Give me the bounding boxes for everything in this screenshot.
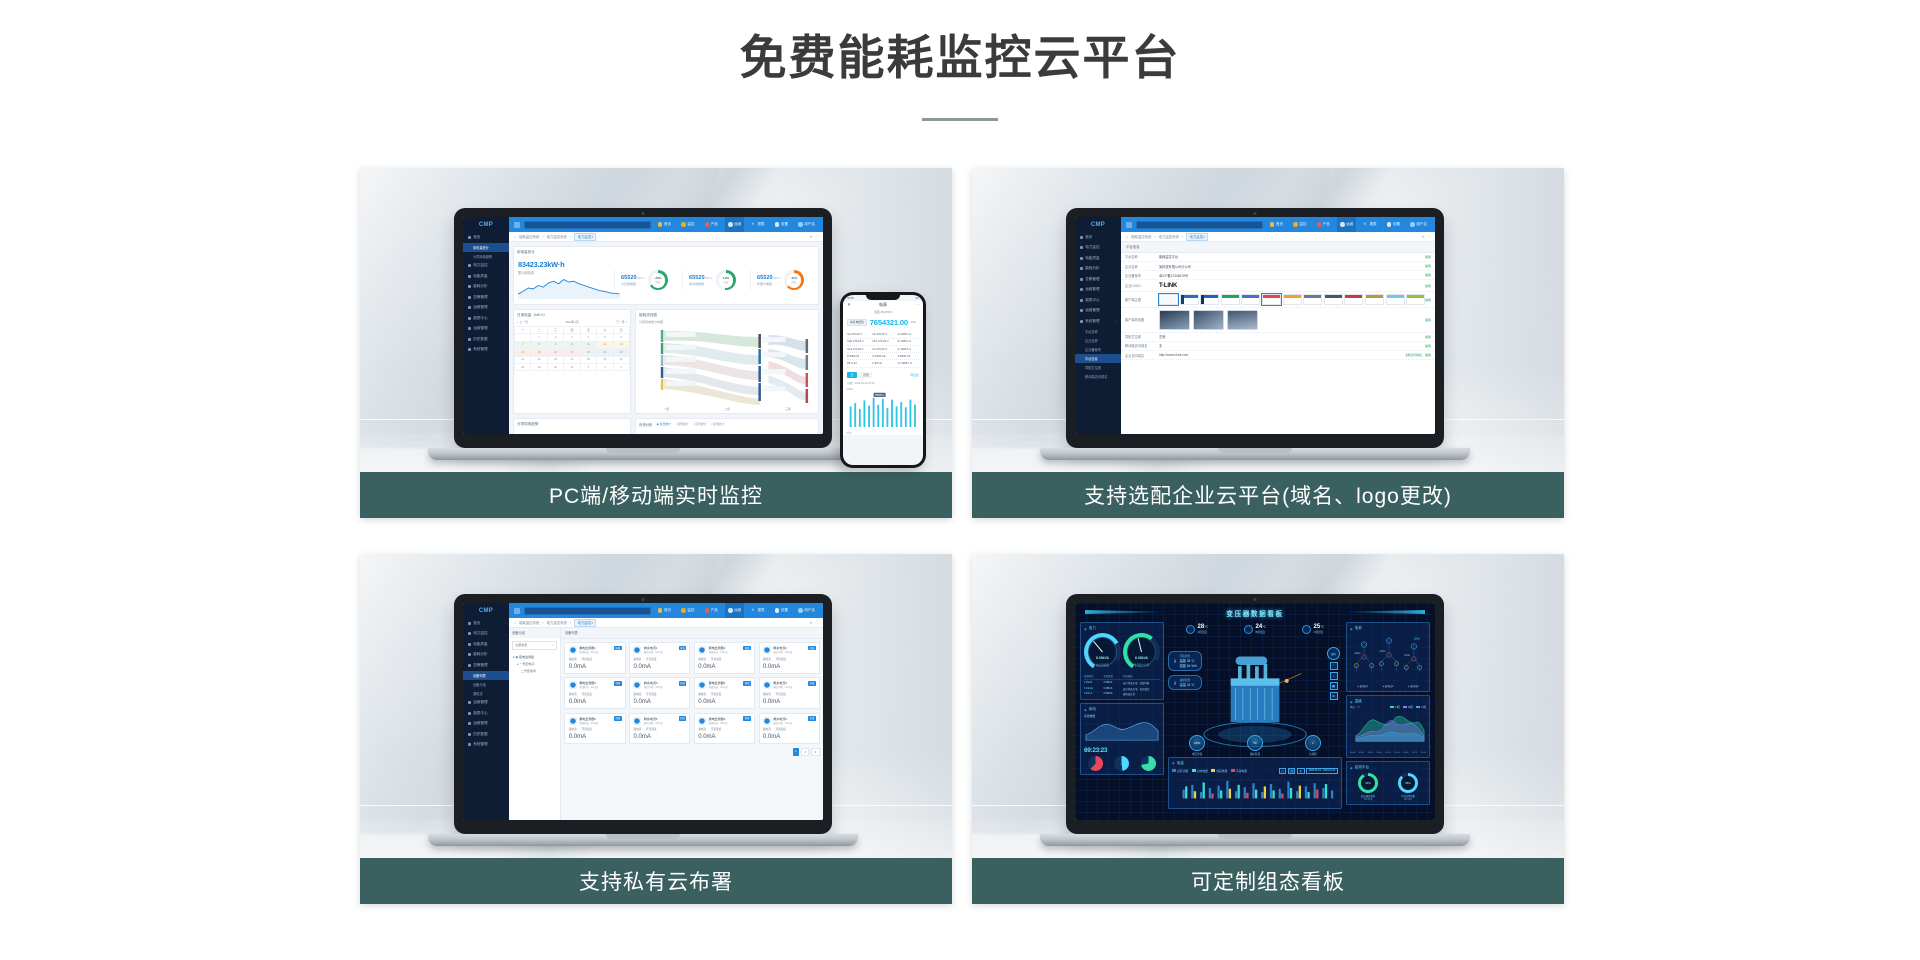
topnav-label: 设置 bbox=[781, 222, 788, 227]
theme-swatch-12[interactable] bbox=[1406, 294, 1425, 305]
device-card[interactable]: 离线漏电监测器5离线状态 · 05号房漏电流环境温度0.0mA bbox=[564, 713, 625, 745]
corner-dots-icon: ·· bbox=[1157, 625, 1161, 629]
calendar-cell[interactable]: 24 bbox=[564, 356, 580, 363]
kpi-c-phase: 25℃C相温度 bbox=[1302, 624, 1324, 634]
cell: 6.05kW bbox=[1084, 681, 1103, 685]
cell: Im 1665.1 A bbox=[898, 362, 919, 365]
calendar-cell[interactable]: 8 bbox=[531, 341, 547, 348]
sidebar-sublabel: 企业备案号 bbox=[1085, 347, 1101, 352]
topnav-item-0[interactable]: 首页 bbox=[1267, 217, 1286, 232]
sidebar-item-0[interactable]: 首页› bbox=[463, 232, 509, 243]
period-month-button[interactable]: 月 bbox=[1288, 768, 1296, 775]
calendar-cell[interactable]: 18 bbox=[580, 349, 596, 356]
sidebar-item-3[interactable]: 能耗分析› bbox=[463, 650, 509, 661]
sidebar-item-5[interactable]: 运维管理› bbox=[463, 303, 509, 314]
cell: 5.28mA bbox=[1084, 692, 1103, 696]
sidebar-label: 电能质量 bbox=[473, 274, 487, 279]
load-radio-3[interactable]: ○ 按年统计 bbox=[710, 422, 724, 426]
calendar-cell[interactable]: 27 bbox=[613, 356, 629, 363]
cell: Ua 270.02 V bbox=[847, 333, 868, 336]
sidebar-item-3[interactable]: 能耗分析› bbox=[1075, 264, 1121, 275]
copy-link-button[interactable]: 复制访问地址 bbox=[1405, 353, 1422, 357]
sidebar-item-4[interactable]: 告警管理› bbox=[1075, 274, 1121, 285]
device-field-1: 漏电流 bbox=[569, 692, 577, 696]
breadcrumb-item-1[interactable]: 电力监控系统 bbox=[547, 620, 567, 625]
theme-swatch-11[interactable] bbox=[1386, 294, 1405, 305]
laptop-mockup-2: CMP 首页› 电力监控› 电能质量› 能耗分析› 告警管理› 运维管理› 报表… bbox=[1066, 208, 1470, 460]
sidebar-sublabel: 分项用电趋势 bbox=[473, 254, 492, 259]
laptop-mockup-3: CMP 首页› 电力监控› 电能质量› 能耗分析› 告警管理⌄ 设备列表 设备分… bbox=[454, 594, 858, 846]
calendar-cell[interactable]: 17 bbox=[564, 349, 580, 356]
sidebar-subitem-a[interactable]: 用电量统计 bbox=[463, 243, 509, 252]
app-logo[interactable]: CMP bbox=[463, 217, 509, 232]
calendar-prev-button[interactable]: < 上一月 bbox=[517, 320, 528, 324]
topnav-item-1[interactable]: 监控 bbox=[678, 217, 697, 232]
calendar-heatmap[interactable]: 一 二 三 四 五 六 日 bbox=[514, 326, 630, 371]
calendar-cell[interactable]: 19 bbox=[597, 349, 613, 356]
calendar-cell[interactable]: 1 bbox=[531, 334, 547, 341]
calendar-cell[interactable]: 2 bbox=[597, 363, 613, 370]
cell: 5.04kVar bbox=[1084, 687, 1103, 691]
device-subitem-0[interactable]: 设备列表 bbox=[463, 671, 509, 680]
edit-button[interactable]: 编辑 bbox=[1425, 255, 1431, 259]
calendar-cell[interactable]: 25 bbox=[580, 356, 596, 363]
calendar-cell[interactable]: 29 bbox=[531, 363, 547, 370]
sidebar-item-5[interactable]: 运维管理› bbox=[1075, 285, 1121, 296]
feature-card-1[interactable]: CMP 首页› 用电量统计 分项用电趋势 电力监控› 电能质量› 能耗分析› 告… bbox=[360, 168, 952, 518]
sidebar-item-8[interactable]: 历史数据› bbox=[463, 729, 509, 740]
sidebar-label: 电力监控 bbox=[473, 631, 487, 636]
scada-panel-meter: 电量 ·· 总有功量 尖峰电量 谷段电量 bbox=[1168, 757, 1342, 809]
topnav-label: 设置 bbox=[1393, 222, 1400, 227]
breadcrumb-item-0[interactable]: 能耗监控系统 bbox=[1131, 234, 1151, 239]
sidebar-item-8[interactable]: 系统管理⌄ bbox=[1075, 316, 1121, 327]
calendar-cell[interactable]: 2 bbox=[547, 334, 563, 341]
settings-subitem-1[interactable]: 企业名称 bbox=[1075, 336, 1121, 345]
breadcrumb-tag[interactable]: 电力监控1 bbox=[574, 619, 596, 627]
app-logo[interactable]: CMP bbox=[1075, 217, 1121, 232]
load-radio-2[interactable]: ○ 按月统计 bbox=[693, 422, 707, 426]
background-thumb-list[interactable] bbox=[1159, 310, 1425, 330]
table-header: 实时数值 bbox=[1104, 674, 1123, 678]
theme-swatch-list[interactable] bbox=[1159, 294, 1425, 305]
feature-card-2[interactable]: CMP 首页› 电力监控› 电能质量› 能耗分析› 告警管理› 运维管理› 报表… bbox=[972, 168, 1564, 518]
row-value: 粤ICP备12345678号 bbox=[1159, 273, 1425, 278]
theme-swatch-7[interactable] bbox=[1303, 294, 1322, 305]
gear-icon[interactable]: ⚙ bbox=[1330, 692, 1338, 700]
topnav-item-6[interactable]: 用户名 bbox=[1407, 217, 1430, 232]
topnav-item-0[interactable]: 首页 bbox=[655, 217, 674, 232]
device-card[interactable]: 在线剩余电流1通信中断 · 01号房漏电流环境湿度0.0mA bbox=[629, 642, 690, 674]
sankey-axis-label: 三级 bbox=[785, 407, 791, 411]
theme-swatch-4[interactable] bbox=[1241, 294, 1260, 305]
breadcrumb-tag[interactable]: 电力监控1 bbox=[574, 233, 596, 241]
env-monitor-pill: 🌡 环境监测温度 28 ℃湿度 54 %rh bbox=[1168, 651, 1202, 671]
device-card[interactable]: 在线剩余电流2通信中断 · 02号房漏电流环境湿度0.0mA bbox=[759, 642, 820, 674]
topnav-item-3[interactable]: 运维 bbox=[725, 217, 744, 232]
kpi-unit: kW·h bbox=[637, 276, 644, 280]
cell: Ic 1665.1 A bbox=[898, 348, 919, 351]
topnav-item-0[interactable]: 首页 bbox=[655, 603, 674, 618]
date-range-input[interactable]: 2024-01-01 - 2024-01-31 bbox=[1306, 768, 1338, 774]
gauge-value: 88% bbox=[1401, 776, 1415, 790]
hamburger-icon[interactable] bbox=[1126, 222, 1132, 228]
calendar-cell[interactable]: 12 bbox=[597, 341, 613, 348]
device-sub: 通信中断 · 03号房 bbox=[644, 685, 663, 689]
device-card[interactable]: 离线漏电监测器4离线状态 · 04号房漏电流环境温度0.0mA bbox=[694, 677, 755, 709]
kpi-label: B相温度 bbox=[1256, 630, 1267, 634]
sidebar-label: 系统管理 bbox=[1085, 319, 1099, 324]
calendar-cell[interactable]: 31 bbox=[564, 363, 580, 370]
edit-button[interactable]: 编辑 bbox=[1425, 284, 1431, 288]
sidebar-item-7[interactable]: 运维管理› bbox=[463, 324, 509, 335]
scada-panel-circuit: 电参 ·· bbox=[1346, 622, 1430, 692]
topnav-item-4[interactable]: ✕报表 bbox=[748, 603, 767, 618]
phone-period-day-button[interactable]: 日 bbox=[847, 372, 857, 378]
device-card[interactable]: 在线剩余电流6通信中断 · 06号房漏电流环境湿度0.0mA bbox=[759, 713, 820, 745]
device-field-1: 漏电流 bbox=[698, 657, 706, 661]
fullscreen-icon[interactable]: ⛶ bbox=[1428, 235, 1430, 239]
phone-data-row: PF 0.24F 50 HzIm 1665.1 A bbox=[847, 360, 919, 367]
sidebar-item-6[interactable]: 报表中心› bbox=[463, 708, 509, 719]
row-value: http://www.t-link.com bbox=[1159, 353, 1405, 357]
sidebar-item-6[interactable]: 报表中心› bbox=[1075, 295, 1121, 306]
axis-tick: 21:00 bbox=[1412, 752, 1417, 754]
calendar-month-label: 2024年1月 bbox=[565, 320, 578, 324]
calendar-cell[interactable]: 4 bbox=[580, 334, 596, 341]
device-card[interactable]: 在线剩余电流4通信中断 · 04号房漏电流环境湿度0.0mA bbox=[759, 677, 820, 709]
device-name: 漏电监测器6 bbox=[709, 717, 728, 721]
breadcrumb-home-icon[interactable]: ⌂ bbox=[514, 235, 516, 239]
refresh-icon[interactable]: ⟳ bbox=[1422, 235, 1425, 239]
settings-subitem-4[interactable]: 导航栏位置 bbox=[1075, 363, 1121, 372]
axis-tick: 24:00 bbox=[1421, 752, 1426, 754]
phone-titlebar: ✕ 电表 ⋯ bbox=[843, 301, 923, 310]
row-value: 左侧 bbox=[1159, 334, 1425, 339]
chart-tooltip-text: 8568.2 bbox=[875, 393, 884, 397]
calendar-cell[interactable]: 20 bbox=[613, 349, 629, 356]
calendar-cell[interactable]: 22 bbox=[531, 356, 547, 363]
sidebar-label: 运维管理 bbox=[473, 700, 487, 705]
calendar-cell[interactable]: 10 bbox=[564, 341, 580, 348]
sidebar-item-8[interactable]: 历史数据› bbox=[463, 334, 509, 345]
sidebar-item-1[interactable]: 电力监控› bbox=[1075, 243, 1121, 254]
calendar-cell[interactable]: 26 bbox=[597, 356, 613, 363]
device-subitem-1[interactable]: 设备分组 bbox=[463, 680, 509, 689]
calendar-cell[interactable]: 3 bbox=[613, 363, 629, 370]
sidebar-item-4[interactable]: 告警管理⌄ bbox=[463, 660, 509, 671]
theme-swatch-1[interactable] bbox=[1180, 294, 1199, 305]
sidebar-item-1[interactable]: 电力监控› bbox=[463, 629, 509, 640]
realtime-button[interactable]: 实时 bbox=[1327, 647, 1340, 660]
weekday: 五 bbox=[580, 326, 596, 333]
svg-text:220kv: 220kv bbox=[1379, 651, 1386, 653]
refresh-icon[interactable]: ⟳ bbox=[810, 621, 813, 625]
breadcrumb-item-1[interactable]: 电力监控系统 bbox=[1159, 234, 1179, 239]
calendar-cell[interactable]: 11 bbox=[580, 341, 596, 348]
device-sub: 离线状态 · 03号房 bbox=[579, 685, 598, 689]
theme-swatch-3[interactable] bbox=[1221, 294, 1240, 305]
laptop-screen-devices[interactable]: CMP 首页› 电力监控› 电能质量› 能耗分析› 告警管理⌄ 设备列表 设备分… bbox=[463, 603, 823, 820]
breadcrumb-item-0[interactable]: 能耗监控系统 bbox=[519, 620, 539, 625]
panel-title: 监测平台 bbox=[1350, 765, 1369, 770]
topnav-item-6[interactable]: 用户名 bbox=[795, 217, 818, 232]
calendar-cell[interactable]: 13 bbox=[613, 341, 629, 348]
laptop-lid: CMP 首页› 电力监控› 电能质量› 能耗分析› 告警管理⌄ 设备列表 设备分… bbox=[454, 594, 832, 834]
topnav-label: 用户名 bbox=[1416, 222, 1427, 227]
refresh-icon[interactable]: ⟳ bbox=[810, 235, 813, 239]
topnav-label: 首页 bbox=[664, 608, 671, 613]
device-card[interactable]: 离线漏电监测器3离线状态 · 03号房漏电流环境温度0.0mA bbox=[564, 677, 625, 709]
sidebar-item-7[interactable]: 运维管理› bbox=[463, 719, 509, 730]
feature-card-3[interactable]: CMP 首页› 电力监控› 电能质量› 能耗分析› 告警管理⌄ 设备列表 设备分… bbox=[360, 554, 952, 904]
sidebar-item-1[interactable]: 电力监控› bbox=[463, 261, 509, 272]
sidebar-item-2[interactable]: 电能质量› bbox=[463, 639, 509, 650]
settings-subitem-3[interactable]: 平台信息 bbox=[1075, 354, 1121, 363]
page-1[interactable]: 1 bbox=[793, 748, 799, 756]
base-node-icon[interactable]: 1 bbox=[1305, 735, 1321, 751]
calendar-cell[interactable]: 3 bbox=[564, 334, 580, 341]
device-sub: 离线状态 · 04号房 bbox=[709, 685, 728, 689]
settings-row-7: 移动端访问域名 无 编辑 bbox=[1121, 342, 1435, 351]
chevron-down-icon[interactable]: ⌄ bbox=[1330, 672, 1338, 680]
device-card[interactable]: 离线漏电监测器1离线状态 · 01号房漏电流环境温度0.0mA bbox=[564, 642, 625, 674]
theme-swatch-5[interactable] bbox=[1262, 294, 1281, 305]
device-card[interactable]: 离线漏电监测器2离线状态 · 02号房漏电流环境温度0.0mA bbox=[694, 642, 755, 674]
row-label: 客户端主题 bbox=[1125, 297, 1159, 302]
device-icon bbox=[633, 646, 641, 654]
background-thumb-1[interactable] bbox=[1193, 310, 1224, 330]
page-root: 免费能耗监控云平台 CMP 首页› 用电量统计 分项用电趋势 bbox=[0, 0, 1920, 960]
sankey-diagram[interactable] bbox=[636, 325, 818, 407]
feature-card-4[interactable]: 变压器数据看板 电力 ·· bbox=[972, 554, 1564, 904]
background-thumb-2[interactable] bbox=[1227, 310, 1258, 330]
topnav-item-2[interactable]: 产品 bbox=[702, 603, 721, 618]
topnav-item-5[interactable]: 设置 bbox=[1384, 217, 1403, 232]
device-value: 0.0mA bbox=[633, 664, 685, 670]
sidebar-item-0[interactable]: 首页› bbox=[463, 618, 509, 629]
sidebar-item-7[interactable]: 运维管理› bbox=[1075, 306, 1121, 317]
kpi-panel-title: 用电量统计 bbox=[514, 247, 818, 257]
topnav-item-4[interactable]: ✕报表 bbox=[1360, 217, 1379, 232]
topnav-item-3[interactable]: 运维 bbox=[725, 603, 744, 618]
sidebar-item-2[interactable]: 电能质量› bbox=[463, 271, 509, 282]
axis-tick: 18:00 bbox=[1403, 752, 1408, 754]
load-panel: 负荷分析 ◉ 按日统计 ○ 按周统计 ○ 按月统计 ○ 按年统计 bbox=[635, 418, 819, 434]
kpi-label: 本月用电量 bbox=[689, 282, 712, 286]
calendar-cell[interactable]: 21 bbox=[515, 356, 531, 363]
fullscreen-icon[interactable]: ⛶ bbox=[816, 621, 818, 625]
trend-panel: 分项用电趋势 bbox=[513, 418, 631, 434]
page-3[interactable]: 3 bbox=[811, 748, 819, 756]
gauge-label: 同比 bbox=[656, 280, 661, 284]
device-icon bbox=[569, 717, 577, 725]
grid-view-icon[interactable]: ▦ bbox=[1330, 682, 1338, 690]
phone-period-month-button[interactable]: 月份 bbox=[860, 372, 872, 378]
theme-swatch-8[interactable] bbox=[1324, 294, 1343, 305]
tree-type-select[interactable]: 全部类型⌄ bbox=[512, 641, 557, 650]
calendar-cell[interactable]: 7 bbox=[515, 341, 531, 348]
fullscreen-icon[interactable]: ⛶ bbox=[816, 235, 818, 239]
hamburger-icon[interactable] bbox=[514, 222, 520, 228]
calendar-cell[interactable]: 9 bbox=[547, 341, 563, 348]
kpi-panel: 用电量统计 83423.23kW·h 累计用电量 bbox=[513, 246, 819, 305]
app-topbar: 首页 监控 产品 运维 ✕报表 设置 用户名 bbox=[509, 603, 823, 618]
laptop-screen-settings[interactable]: CMP 首页› 电力监控› 电能质量› 能耗分析› 告警管理› 运维管理› 报表… bbox=[1075, 217, 1435, 434]
calendar-cell[interactable]: 6 bbox=[613, 334, 629, 341]
topnav-item-1[interactable]: 监控 bbox=[1290, 217, 1309, 232]
sidebar-subitem-b[interactable]: 分项用电趋势 bbox=[463, 252, 509, 261]
device-field-1: 漏电流 bbox=[569, 657, 577, 661]
device-name: 漏电监测器5 bbox=[579, 717, 598, 721]
load-radio-1[interactable]: ○ 按周统计 bbox=[675, 422, 689, 426]
topnav-label: 首页 bbox=[1276, 222, 1283, 227]
sidebar-sublabel: 企业名称 bbox=[1085, 338, 1098, 343]
laptop-screen-scada[interactable]: 变压器数据看板 电力 ·· bbox=[1075, 603, 1435, 820]
kpi-unit: ℃ bbox=[1320, 625, 1324, 629]
kpi-unit: kW·h bbox=[773, 276, 780, 280]
tree-node-2[interactable]: 二号配电间 bbox=[509, 667, 560, 674]
period-day-button[interactable]: 日 bbox=[1279, 768, 1287, 775]
device-card[interactable]: 离线漏电监测器6离线状态 · 06号房漏电流环境温度0.0mA bbox=[694, 713, 755, 745]
topnav-item-1[interactable]: 监控 bbox=[678, 603, 697, 618]
tree-node-1[interactable]: ▸ 一号配电间 bbox=[509, 660, 560, 667]
device-field-1: 漏电流 bbox=[633, 692, 641, 696]
sidebar-item-4[interactable]: 告警管理› bbox=[463, 292, 509, 303]
edit-button[interactable]: 编辑 bbox=[1425, 298, 1431, 302]
phone-toolbar: 日 月份 导出表 bbox=[843, 370, 923, 381]
app-logo[interactable]: CMP bbox=[463, 603, 509, 618]
pagination[interactable]: 1 2 3 bbox=[564, 748, 819, 756]
circuit-node-label-2: ● 变电站3 bbox=[1408, 684, 1419, 688]
topnav-item-5[interactable]: 设置 bbox=[772, 603, 791, 618]
edit-button[interactable]: 编辑 bbox=[1425, 344, 1431, 348]
sidebar-item-3[interactable]: 能耗分析› bbox=[463, 282, 509, 293]
title-wing-left-icon bbox=[1085, 610, 1163, 614]
close-icon[interactable]: ✕ bbox=[847, 302, 851, 308]
phone-bar-chart[interactable]: 10000 8568.2 bbox=[843, 386, 923, 435]
breadcrumb-tag[interactable]: 电力监控1 bbox=[1186, 233, 1208, 241]
cell: P 5000 W bbox=[847, 355, 868, 358]
edit-button[interactable]: 编辑 bbox=[1425, 353, 1431, 357]
theme-swatch-2[interactable] bbox=[1200, 294, 1219, 305]
device-badge: 离线 bbox=[743, 646, 751, 651]
calendar-cell[interactable]: 30 bbox=[547, 363, 563, 370]
calendar-cell[interactable]: 16 bbox=[547, 349, 563, 356]
topnav-item-4[interactable]: ✕报表 bbox=[748, 217, 767, 232]
calendar-cell[interactable]: 14 bbox=[515, 349, 531, 356]
legend-label: 谷段电量 bbox=[1216, 769, 1227, 773]
calendar-cell[interactable]: 23 bbox=[547, 356, 563, 363]
device-badge: 在线 bbox=[679, 716, 687, 721]
device-field-1: 漏电流 bbox=[633, 657, 641, 661]
period-year-button[interactable]: 年 bbox=[1297, 768, 1305, 775]
settings-subitem-5[interactable]: 移动端访问域名 bbox=[1075, 372, 1121, 381]
device-icon bbox=[698, 717, 706, 725]
scada-panel-load: 用电 ·· 总用电量 bbox=[1080, 703, 1164, 775]
more-icon[interactable]: ⋯ bbox=[915, 303, 918, 307]
sidebar-item-6[interactable]: 报表中心› bbox=[463, 313, 509, 324]
sidebar-item-2[interactable]: 电能质量› bbox=[1075, 253, 1121, 264]
device-subitem-2[interactable]: 漏电流 bbox=[463, 689, 509, 698]
device-field-2: 环境温度 bbox=[582, 692, 592, 696]
chevron-up-icon[interactable]: ⌃ bbox=[1330, 662, 1338, 670]
theme-swatch-10[interactable] bbox=[1365, 294, 1384, 305]
topnav-item-6[interactable]: 用户名 bbox=[795, 603, 818, 618]
laptop-lid: 变压器数据看板 电力 ·· bbox=[1066, 594, 1444, 834]
edit-button[interactable]: 编辑 bbox=[1425, 273, 1431, 277]
gauge-max-load: 6.05kVA 当月最大负荷 bbox=[1123, 633, 1160, 671]
gauge-label: 当月最大负荷 bbox=[1123, 663, 1160, 667]
weekday: 二 bbox=[531, 326, 547, 333]
sidebar-item-9[interactable]: 系统管理› bbox=[463, 345, 509, 356]
kpi-gauge: 9.8%同比 bbox=[716, 270, 736, 290]
base-node-icon[interactable]: 50 bbox=[1247, 735, 1263, 751]
calendar-cell[interactable]: 1 bbox=[580, 363, 596, 370]
settings-row-theme: 客户端主题 bbox=[1121, 292, 1435, 308]
calendar-cell[interactable]: 28 bbox=[515, 363, 531, 370]
sidebar-item-5[interactable]: 运维管理› bbox=[463, 698, 509, 709]
theme-swatch-6[interactable] bbox=[1283, 294, 1302, 305]
device-sub: 通信中断 · 02号房 bbox=[773, 650, 792, 654]
topnav-item-3[interactable]: 运维 bbox=[1337, 217, 1356, 232]
calendar-cell[interactable] bbox=[515, 334, 531, 341]
edit-button[interactable]: 编辑 bbox=[1425, 335, 1431, 339]
background-thumb-0[interactable] bbox=[1159, 310, 1190, 330]
scada-title-bar: 变压器数据看板 bbox=[1075, 603, 1435, 622]
node-label: 负荷柜 bbox=[1305, 752, 1321, 756]
theme-swatch-0[interactable] bbox=[1159, 294, 1178, 305]
device-icon bbox=[763, 681, 771, 689]
breadcrumb-home-icon[interactable]: ⌂ bbox=[1126, 235, 1128, 239]
topnav-label: 用户名 bbox=[804, 608, 815, 613]
breadcrumb-home-icon[interactable]: ⌂ bbox=[514, 621, 516, 625]
hamburger-icon[interactable] bbox=[514, 608, 520, 614]
settings-panel-title: 平台信息 bbox=[1121, 242, 1435, 253]
edit-button[interactable]: 编辑 bbox=[1425, 318, 1431, 322]
edit-button[interactable]: 编辑 bbox=[1425, 264, 1431, 268]
sidebar-item-0[interactable]: 首页› bbox=[1075, 232, 1121, 243]
app-sidebar: CMP 首页› 电力监控› 电能质量› 能耗分析› 告警管理⌄ 设备列表 设备分… bbox=[463, 603, 509, 820]
company-logo: T-LINK bbox=[1159, 283, 1425, 289]
calendar-cell[interactable]: 5 bbox=[597, 334, 613, 341]
topnav-item-5[interactable]: 设置 bbox=[772, 217, 791, 232]
settings-subitem-0[interactable]: 平台名称 bbox=[1075, 327, 1121, 336]
page-2[interactable]: 2 bbox=[801, 748, 809, 756]
theme-swatch-9[interactable] bbox=[1344, 294, 1363, 305]
kpi-unit: ℃ bbox=[1204, 625, 1208, 629]
phone-export-button[interactable]: 导出表 bbox=[910, 373, 918, 377]
tree-node-0[interactable]: ▾ ▣ 配电监测组 bbox=[509, 653, 560, 660]
topnav-item-2[interactable]: 产品 bbox=[1314, 217, 1333, 232]
card-caption-3: 支持私有云布署 bbox=[360, 858, 952, 904]
sidebar-label: 历史数据 bbox=[473, 732, 487, 737]
breadcrumb-item-1[interactable]: 电力监控系统 bbox=[547, 234, 567, 239]
phone-screen[interactable]: 10:48 4G ✕ 电表 ⋯ 温度 36V/50% 本月电能值 7654321… bbox=[843, 295, 923, 465]
load-radio-0[interactable]: ◉ 按日统计 bbox=[657, 422, 671, 426]
base-node-icon[interactable]: 1800 bbox=[1189, 735, 1205, 751]
topnav-item-2[interactable]: 产品 bbox=[702, 217, 721, 232]
laptop-screen-dashboard[interactable]: CMP 首页› 用电量统计 分项用电趋势 电力监控› 电能质量› 能耗分析› 告… bbox=[463, 217, 823, 434]
sidebar-item-9[interactable]: 系统管理› bbox=[463, 740, 509, 751]
calendar-cell[interactable]: 15 bbox=[531, 349, 547, 356]
device-card[interactable]: 在线剩余电流3通信中断 · 03号房漏电流环境湿度0.0mA bbox=[629, 677, 690, 709]
calendar-next-button[interactable]: 下一月 > bbox=[616, 320, 627, 324]
settings-subitem-2[interactable]: 企业备案号 bbox=[1075, 345, 1121, 354]
breadcrumb-item-0[interactable]: 能耗监控系统 bbox=[519, 234, 539, 239]
gauge-sub: 额定容量 bbox=[1358, 798, 1378, 801]
device-card[interactable]: 在线剩余电流5通信中断 · 05号房漏电流环境湿度0.0mA bbox=[629, 713, 690, 745]
